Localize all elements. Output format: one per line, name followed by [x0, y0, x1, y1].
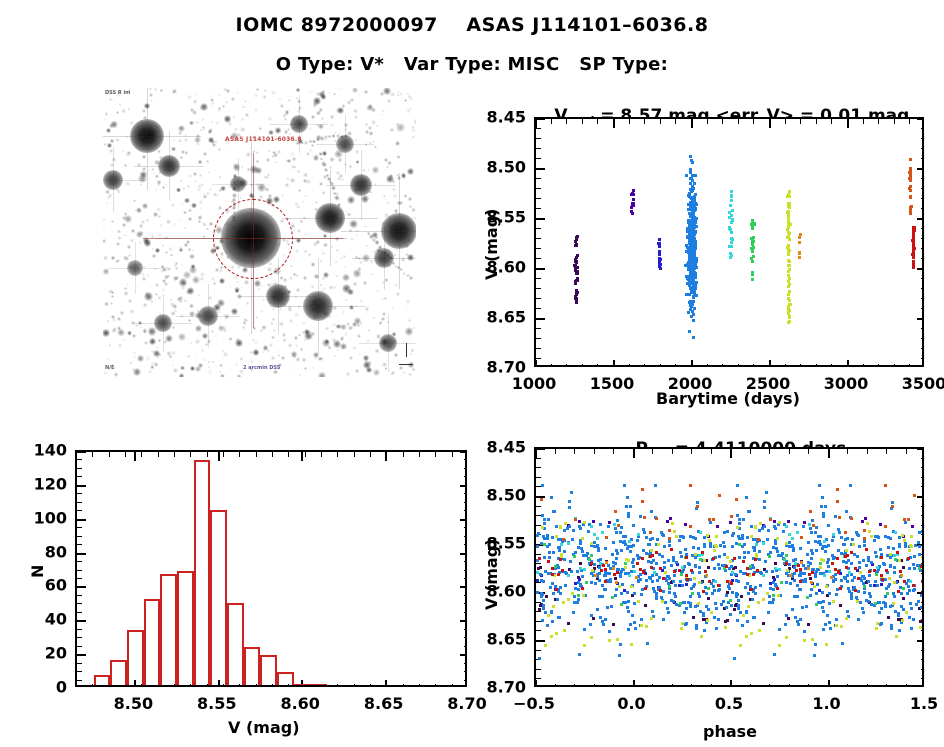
- phase-data-point: [745, 496, 748, 499]
- field-star: [195, 325, 202, 332]
- phase-data-point: [828, 602, 831, 605]
- field-star: [322, 191, 325, 194]
- phase-data-point: [855, 596, 858, 599]
- y-axis-minor-tick: [536, 582, 541, 583]
- field-star: [409, 97, 413, 101]
- lightcurve-data-point: [686, 282, 689, 285]
- lightcurve-data-point: [574, 282, 577, 285]
- phase-data-point: [713, 567, 716, 570]
- finder-chart-image: ASAS J114101-6036.8 DSS R im 2 arcmin DS…: [103, 88, 416, 377]
- phase-data-point: [870, 561, 873, 564]
- lightcurve-data-point: [694, 202, 697, 205]
- x-axis-minor-tick: [125, 452, 126, 457]
- phase-data-point: [835, 624, 838, 627]
- x-axis-minor-tick: [750, 449, 751, 454]
- phase-data-point: [552, 592, 555, 595]
- phase-data-point: [604, 568, 607, 571]
- phase-data-point: [590, 542, 593, 545]
- field-star: [364, 90, 368, 94]
- phase-data-point: [754, 592, 757, 595]
- y-axis-minor-tick: [536, 158, 541, 159]
- x-axis-minor-tick: [535, 684, 536, 687]
- y-axis-minor-tick: [77, 646, 82, 647]
- lightcurve-data-point: [751, 250, 754, 253]
- phase-data-point: [810, 557, 813, 560]
- phase-data-point: [810, 549, 813, 552]
- x-axis-tick-label: 8.70: [447, 694, 486, 713]
- field-star: [218, 311, 220, 313]
- field-star: [340, 257, 343, 260]
- phase-data-point: [753, 616, 756, 619]
- phase-data-point: [908, 549, 911, 552]
- phase-data-point: [735, 595, 738, 598]
- field-star: [154, 268, 156, 270]
- phase-data-point: [879, 548, 882, 551]
- field-star: [201, 184, 204, 187]
- phase-data-point: [741, 545, 744, 548]
- y-axis-minor-tick: [464, 519, 467, 520]
- phase-data-point: [907, 585, 910, 588]
- phase-data-point: [651, 610, 654, 613]
- field-star: [152, 254, 156, 258]
- y-axis-minor-tick: [77, 671, 82, 672]
- x-axis-minor-tick: [597, 364, 598, 367]
- phase-data-point: [720, 603, 723, 606]
- x-axis-minor-tick: [675, 119, 676, 124]
- phase-data-point: [814, 572, 817, 575]
- phase-data-point: [843, 543, 846, 546]
- x-axis-tick-label: 8.50: [114, 694, 153, 713]
- phase-data-point: [822, 600, 825, 603]
- lightcurve-data-point: [729, 252, 732, 255]
- field-star: [246, 302, 249, 305]
- y-axis-minor-tick: [464, 671, 467, 672]
- x-axis-minor-tick: [769, 684, 770, 687]
- field-star: [158, 339, 161, 342]
- y-axis-minor-tick: [536, 630, 541, 631]
- diffraction-spike: [163, 294, 164, 352]
- phase-data-point: [884, 605, 887, 608]
- field-star: [365, 130, 369, 134]
- phase-data-point: [775, 547, 778, 550]
- phase-data-point: [918, 531, 921, 534]
- field-star: [409, 338, 411, 340]
- phase-data-point: [538, 657, 541, 660]
- field-star: [104, 302, 108, 306]
- field-star: [347, 100, 351, 104]
- field-star: [259, 127, 262, 130]
- field-star: [353, 282, 358, 287]
- y-axis-minor-tick: [464, 493, 467, 494]
- phase-data-point: [547, 560, 550, 563]
- phase-data-point: [880, 574, 883, 577]
- lightcurve-data-point: [694, 247, 697, 250]
- field-star: [155, 300, 157, 302]
- y-axis-tick-label: 20: [45, 644, 67, 663]
- phase-data-point: [614, 510, 617, 513]
- phase-data-point: [784, 623, 787, 626]
- phase-data-point: [544, 570, 547, 573]
- phase-data-point: [639, 578, 642, 581]
- phase-data-point: [574, 587, 577, 590]
- phase-data-point: [713, 616, 716, 619]
- y-axis-minor-tick: [536, 258, 541, 259]
- x-axis-tick-label: 0.0: [617, 694, 645, 713]
- lightcurve-data-point: [787, 202, 790, 205]
- phase-data-point: [736, 514, 739, 517]
- phase-data-point: [606, 606, 609, 609]
- phase-data-point: [863, 585, 866, 588]
- phase-data-point: [680, 573, 683, 576]
- lightcurve-data-point: [693, 307, 696, 310]
- phase-data-point: [912, 584, 915, 587]
- field-star: [117, 317, 121, 321]
- y-axis-minor-tick: [536, 308, 541, 309]
- y-axis-minor-tick: [464, 586, 467, 587]
- phase-data-point: [620, 549, 623, 552]
- field-star: [330, 123, 334, 127]
- phase-data-point: [898, 543, 901, 546]
- phase-data-point: [913, 555, 916, 558]
- field-star: [178, 333, 186, 341]
- lightcurve-data-point: [728, 245, 731, 248]
- lightcurve-data-point: [658, 263, 661, 266]
- y-axis-minor-tick: [77, 553, 82, 554]
- phase-data-point: [803, 639, 806, 642]
- field-star: [292, 157, 296, 161]
- lightcurve-data-point: [798, 236, 801, 239]
- phase-data-point: [846, 537, 849, 540]
- lightcurve-data-point: [751, 271, 754, 274]
- phase-data-point: [825, 585, 828, 588]
- phase-data-point: [729, 560, 732, 563]
- field-star: [350, 237, 355, 242]
- lightcurve-data-point: [689, 155, 692, 158]
- y-axis-minor-tick: [464, 561, 467, 562]
- phase-data-point: [646, 642, 649, 645]
- phase-data-point: [868, 592, 871, 595]
- y-axis-minor-tick: [536, 328, 541, 329]
- phase-data-point: [713, 589, 716, 592]
- field-star: [359, 261, 363, 265]
- phase-data-point: [785, 581, 788, 584]
- field-star: [211, 277, 215, 281]
- y-axis-minor-tick: [921, 288, 924, 289]
- finder-survey-label: DSS R im: [105, 90, 130, 96]
- field-star: [336, 249, 339, 252]
- field-star: [150, 99, 153, 102]
- y-axis-minor-tick: [464, 459, 467, 460]
- phase-data-point: [761, 527, 764, 530]
- phase-data-point: [581, 537, 584, 540]
- field-star: [124, 164, 127, 167]
- field-star: [200, 207, 202, 209]
- field-star: [103, 256, 108, 261]
- field-star: [212, 104, 214, 106]
- phase-data-point: [768, 555, 771, 558]
- phase-data-point: [793, 595, 796, 598]
- phase-data-point: [668, 540, 671, 543]
- field-star: [172, 326, 176, 330]
- x-axis-minor-tick: [574, 449, 575, 454]
- lightcurve-data-point: [912, 249, 915, 252]
- x-axis-minor-tick: [419, 452, 420, 457]
- field-star: [225, 101, 227, 103]
- phase-data-point: [909, 580, 912, 583]
- field-star: [342, 310, 345, 313]
- y-axis-minor-tick: [464, 476, 467, 477]
- field-star: [125, 152, 130, 157]
- x-axis-minor-tick: [594, 684, 595, 687]
- y-axis-minor-tick: [921, 458, 924, 459]
- phase-data-point: [694, 556, 697, 559]
- phase-data-point: [668, 591, 671, 594]
- field-star: [321, 94, 326, 99]
- phase-data-point: [747, 592, 750, 595]
- field-star: [140, 326, 143, 329]
- lightcurve-data-point: [692, 295, 695, 298]
- field-star: [353, 269, 361, 277]
- x-axis-minor-tick: [828, 449, 829, 454]
- phase-data-point: [685, 583, 688, 586]
- phase-data-point: [615, 581, 618, 584]
- phase-data-point: [750, 535, 753, 538]
- field-star: [141, 220, 145, 224]
- y-axis-minor-tick: [921, 298, 924, 299]
- phase-data-point: [781, 552, 784, 555]
- phase-data-point: [785, 542, 788, 545]
- y-axis-minor-tick: [464, 451, 467, 452]
- y-axis-minor-tick: [921, 118, 924, 119]
- phase-data-point: [711, 592, 714, 595]
- y-axis-tick-label: 140: [34, 441, 67, 460]
- phase-data-point: [572, 611, 575, 614]
- phase-data-point: [889, 537, 892, 540]
- field-star: [109, 98, 112, 101]
- phase-data-point: [536, 545, 539, 548]
- phase-data-point: [678, 569, 681, 572]
- field-star: [139, 241, 143, 245]
- phase-data-point: [542, 607, 545, 610]
- lightcurve-data-point: [798, 252, 801, 255]
- phase-data-point: [687, 562, 690, 565]
- phase-data-point: [752, 573, 755, 576]
- phase-data-point: [583, 521, 586, 524]
- x-axis-minor-tick: [800, 119, 801, 124]
- field-star: [142, 203, 148, 209]
- phase-data-point: [623, 484, 626, 487]
- phase-data-point: [809, 577, 812, 580]
- phase-data-point: [613, 523, 616, 526]
- phase-data-point: [748, 510, 751, 513]
- phase-data-point: [736, 526, 739, 529]
- field-star: [337, 349, 339, 351]
- field-star: [180, 366, 185, 371]
- phase-data-point: [649, 531, 652, 534]
- histogram-bar: [177, 571, 194, 688]
- lightcurve-data-point: [688, 293, 691, 296]
- x-axis-minor-tick: [582, 119, 583, 124]
- phase-data-point: [624, 566, 627, 569]
- phaseplot-xlabel: phase: [703, 722, 757, 741]
- phase-data-point: [825, 643, 828, 646]
- phase-data-point: [787, 617, 790, 620]
- phase-data-point: [620, 592, 623, 595]
- field-star: [336, 275, 338, 277]
- lightcurve-data-point: [685, 174, 688, 177]
- field-star: [111, 256, 115, 260]
- field-star: [204, 359, 206, 361]
- field-star: [296, 274, 299, 277]
- field-star: [179, 296, 183, 300]
- phase-data-point: [627, 515, 630, 518]
- field-star: [336, 134, 340, 138]
- lightcurve-data-point: [909, 176, 912, 179]
- phase-data-point: [892, 592, 895, 595]
- field-star: [133, 356, 135, 358]
- phase-data-point: [612, 541, 615, 544]
- field-star: [104, 371, 107, 374]
- phase-data-point: [796, 531, 799, 534]
- phase-data-point: [567, 622, 570, 625]
- lightcurve-data-point: [659, 267, 662, 270]
- phase-data-point: [700, 635, 703, 638]
- field-star: [206, 160, 209, 163]
- field-star: [408, 197, 412, 201]
- y-axis-minor-tick: [921, 358, 924, 359]
- field-star: [287, 178, 289, 180]
- phase-data-point: [749, 565, 752, 568]
- y-axis-minor-tick: [921, 650, 924, 651]
- phase-data-point: [893, 554, 896, 557]
- field-star: [217, 107, 222, 112]
- phase-data-point: [887, 546, 890, 549]
- y-axis-minor-tick: [77, 468, 82, 469]
- field-star: [290, 367, 292, 369]
- phase-data-point: [605, 536, 608, 539]
- phase-data-point: [922, 585, 924, 588]
- field-star: [378, 352, 380, 354]
- phase-data-point: [718, 494, 721, 497]
- histogram-bar: [127, 630, 144, 687]
- x-axis-minor-tick: [435, 452, 436, 457]
- phase-data-point: [689, 535, 692, 538]
- field-star: [349, 165, 352, 168]
- x-axis-minor-tick: [707, 119, 708, 124]
- phase-data-point: [923, 587, 924, 590]
- phase-data-point: [769, 518, 772, 521]
- phase-data-point: [636, 562, 639, 565]
- phase-data-point: [767, 611, 770, 614]
- phase-data-point: [637, 535, 640, 538]
- phase-data-point: [897, 614, 900, 617]
- phase-data-point: [856, 555, 859, 558]
- phase-data-point: [884, 484, 887, 487]
- field-star: [226, 89, 230, 93]
- y-axis-minor-tick: [921, 573, 924, 574]
- histogram-bar: [260, 655, 277, 687]
- phase-data-point: [836, 500, 839, 503]
- phase-data-point: [697, 592, 700, 595]
- phase-data-point: [892, 547, 895, 550]
- x-axis-minor-tick: [403, 452, 404, 457]
- phase-data-point: [887, 585, 890, 588]
- phase-data-point: [590, 554, 593, 557]
- x-axis-minor-tick: [691, 684, 692, 687]
- field-star: [354, 115, 358, 119]
- field-star: [404, 99, 407, 102]
- field-star: [341, 178, 344, 181]
- field-star: [220, 374, 224, 377]
- phase-data-point: [649, 555, 652, 558]
- x-axis-minor-tick: [574, 684, 575, 687]
- phase-data-point: [555, 535, 558, 538]
- field-star: [200, 103, 208, 111]
- field-star: [187, 185, 190, 188]
- phase-data-point: [909, 602, 912, 605]
- field-star: [289, 319, 293, 323]
- phase-data-point: [632, 544, 635, 547]
- field-star: [279, 98, 281, 100]
- y-axis-minor-tick: [536, 563, 541, 564]
- lightcurve-data-point: [689, 171, 692, 174]
- phase-data-point: [601, 584, 604, 587]
- field-star: [192, 249, 194, 251]
- phase-data-point: [690, 569, 693, 572]
- y-axis-minor-tick: [536, 138, 541, 139]
- x-axis-minor-tick: [909, 119, 910, 124]
- field-star: [324, 135, 328, 139]
- field-star: [405, 309, 407, 311]
- y-axis-minor-tick: [921, 178, 924, 179]
- field-star: [165, 251, 168, 254]
- field-star: [300, 220, 303, 223]
- field-star: [325, 339, 329, 343]
- phase-data-point: [766, 592, 769, 595]
- field-star: [371, 273, 373, 275]
- lightcurve-data-point: [787, 211, 790, 214]
- lightcurve-data-point: [692, 198, 695, 201]
- phase-data-point: [633, 592, 636, 595]
- field-star: [323, 243, 327, 247]
- x-axis-minor-tick: [753, 364, 754, 367]
- phase-data-point: [684, 548, 687, 551]
- x-axis-minor-tick: [730, 449, 731, 454]
- phase-data-point: [590, 562, 593, 565]
- field-star: [392, 188, 395, 191]
- phase-data-point: [705, 574, 708, 577]
- field-star: [284, 130, 288, 134]
- field-star: [256, 151, 259, 154]
- field-star: [142, 277, 146, 281]
- x-axis-minor-tick: [555, 684, 556, 687]
- field-star: [376, 125, 378, 127]
- phase-data-point: [629, 550, 632, 553]
- field-star: [184, 300, 186, 302]
- phase-data-point: [814, 575, 817, 578]
- field-star: [373, 317, 375, 319]
- phase-data-point: [618, 654, 621, 657]
- phase-data-point: [762, 622, 765, 625]
- field-star: [215, 282, 217, 284]
- phase-data-point: [684, 523, 687, 526]
- field-star: [412, 135, 416, 139]
- phase-data-point: [590, 581, 593, 584]
- phase-data-point: [870, 535, 873, 538]
- phase-data-point: [893, 581, 896, 584]
- field-star: [184, 138, 188, 142]
- phase-data-point: [625, 558, 628, 561]
